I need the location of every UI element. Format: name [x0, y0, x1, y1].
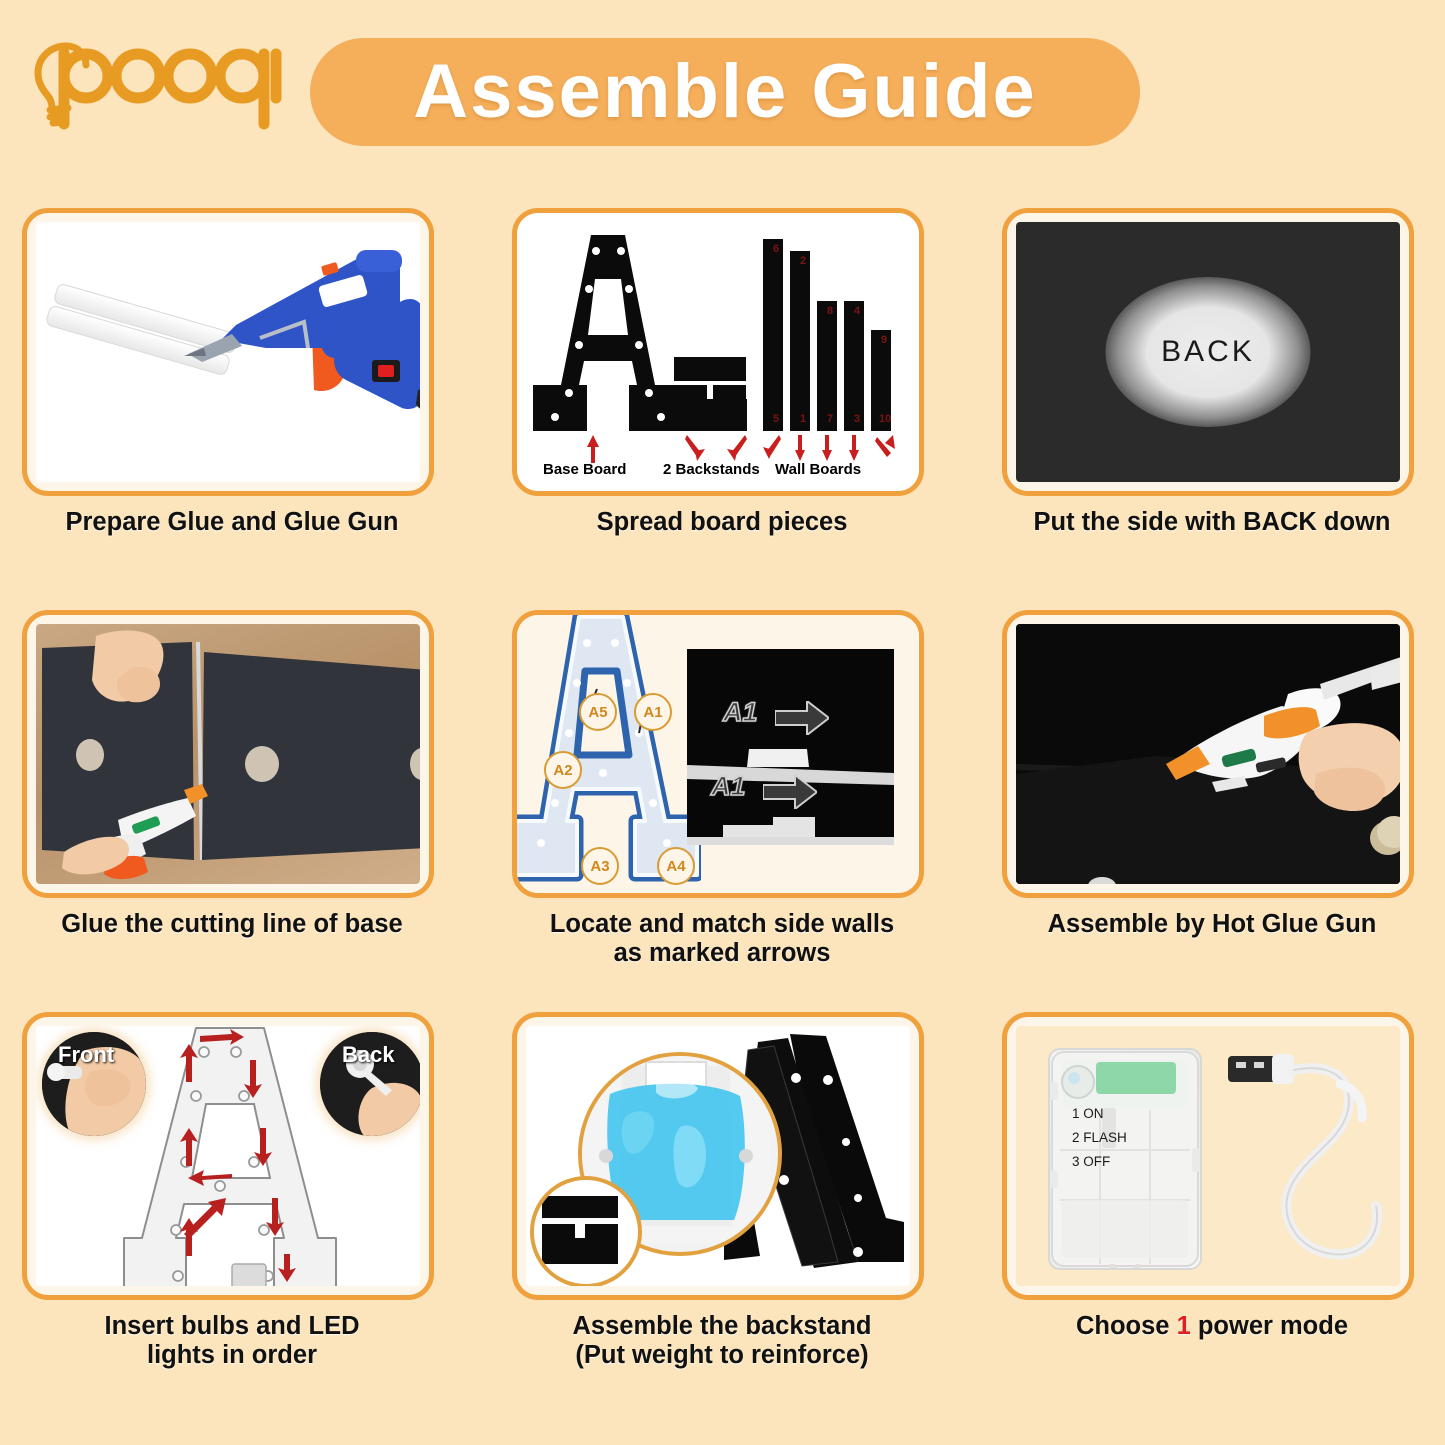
backstand-piece — [674, 357, 746, 381]
wall-board-number: 10 — [879, 413, 891, 425]
wall-board-number: 6 — [773, 243, 779, 255]
step-7-caption: Insert bulbs and LED lights in order — [22, 1312, 442, 1369]
step-5-caption-line-1: Locate and match side walls — [512, 910, 932, 939]
bulb-insertion-diagram: Front Back — [36, 1026, 420, 1286]
piece-label-base-board: Base Board — [543, 461, 626, 478]
step-card-2: Base Board 2 Backstands 6 5 — [512, 208, 932, 537]
battery-box: 1 ON 2 FLASH 3 OFF — [1048, 1048, 1202, 1270]
arrow-icon — [873, 435, 895, 461]
step-card-5: A5 A1 A2 A3 A4 A1 A1 — [512, 610, 932, 967]
glue-gun-and-sticks-photo — [36, 222, 420, 482]
step-4-caption: Glue the cutting line of base — [22, 910, 442, 939]
letter-a-with-side-walls — [517, 615, 701, 883]
glue-gun — [36, 222, 420, 482]
usb-cable — [1222, 1044, 1400, 1284]
step-6-frame — [1002, 610, 1414, 898]
step-9-caption-prefix: Choose — [1076, 1312, 1177, 1340]
marker-a3: A3 — [581, 847, 619, 885]
backstand-pieces-inset — [530, 1176, 642, 1286]
side-wall-matching-diagram: A5 A1 A2 A3 A4 A1 A1 — [517, 615, 919, 893]
steps-grid: Prepare Glue and Glue Gun — [0, 200, 1445, 1445]
step-4-frame — [22, 610, 434, 898]
dark-boards — [36, 624, 420, 884]
step-card-8: Assemble the backstand (Put weight to re… — [512, 1012, 932, 1369]
marker-a2: A2 — [544, 751, 582, 789]
arrow-icon — [793, 435, 807, 461]
arrow-icon — [585, 435, 601, 463]
marker-a1: A1 — [634, 693, 672, 731]
backstand-piece — [707, 399, 747, 431]
wall-board — [790, 251, 810, 431]
board-pieces-diagram: Base Board 2 Backstands 6 5 — [517, 213, 919, 491]
a1-label-top: A1 — [723, 697, 758, 728]
marker-a5: A5 — [579, 693, 617, 731]
step-3-caption: Put the side with BACK down — [1002, 508, 1422, 537]
lightbulb-icon — [20, 20, 285, 130]
back-label: BACK — [1161, 335, 1255, 369]
arrow-icon — [820, 435, 834, 461]
step-card-1: Prepare Glue and Glue Gun — [22, 208, 442, 537]
wall-board-number: 3 — [854, 413, 860, 425]
step-8-caption-line-1: Assemble the backstand — [512, 1312, 932, 1341]
arrow-icon — [847, 435, 861, 461]
base-board-letter-a — [533, 235, 683, 435]
step-9-caption: Choose 1 power mode — [1002, 1312, 1422, 1341]
backstand-assembly-photo — [526, 1026, 910, 1286]
step-7-frame: Front Back — [22, 1012, 434, 1300]
battery-box-and-usb-cable-photo: 1 ON 2 FLASH 3 OFF — [1016, 1026, 1400, 1286]
hot-glue-gun-assembly-photo — [1016, 624, 1400, 884]
step-5-caption: Locate and match side walls as marked ar… — [512, 910, 932, 967]
step-8-caption-line-2: (Put weight to reinforce) — [512, 1341, 932, 1370]
wall-board-number: 4 — [854, 305, 860, 317]
wall-board-number: 2 — [800, 255, 806, 267]
wall-board-number: 8 — [827, 305, 833, 317]
step-6-caption: Assemble by Hot Glue Gun — [1002, 910, 1422, 939]
step-7-caption-line-2: lights in order — [22, 1341, 442, 1370]
wall-board — [763, 239, 783, 431]
wall-board-number: 5 — [773, 413, 779, 425]
gluing-base-cutting-line-photo — [36, 624, 420, 884]
wall-board-number: 9 — [881, 334, 887, 346]
step-card-6: Assemble by Hot Glue Gun — [1002, 610, 1422, 939]
front-label: Front — [58, 1042, 114, 1068]
step-card-9: 1 ON 2 FLASH 3 OFF Choose 1 power mode — [1002, 1012, 1422, 1341]
step-5-caption-line-2: as marked arrows — [512, 939, 932, 968]
arrow-icon — [725, 435, 747, 461]
power-mode-off: 3 OFF — [1072, 1154, 1110, 1169]
step-9-frame: 1 ON 2 FLASH 3 OFF — [1002, 1012, 1414, 1300]
step-card-7: Front Back Insert bulbs and LED lights i… — [22, 1012, 442, 1369]
step-7-caption-line-1: Insert bulbs and LED — [22, 1312, 442, 1341]
step-5-frame: A5 A1 A2 A3 A4 A1 A1 — [512, 610, 924, 898]
step-1-frame — [22, 208, 434, 496]
page-header: Assemble Guide — [0, 0, 1445, 200]
back-label: Back — [342, 1042, 395, 1068]
arrow-right-icon — [775, 701, 829, 735]
wall-board-number: 1 — [800, 413, 806, 425]
a1-label-bottom: A1 — [711, 771, 746, 802]
power-mode-flash: 2 FLASH — [1072, 1130, 1127, 1145]
step-1-caption: Prepare Glue and Glue Gun — [22, 508, 442, 537]
glue-gun-in-hand — [1016, 624, 1400, 884]
step-3-frame: BACK — [1002, 208, 1414, 496]
step-8-frame — [512, 1012, 924, 1300]
backstand-piece-icons — [534, 1180, 630, 1276]
arrow-icon — [685, 435, 707, 461]
arrow-right-icon — [763, 775, 817, 809]
wall-board-number: 7 — [827, 413, 833, 425]
marker-a4: A4 — [657, 847, 695, 885]
back-side-photo: BACK — [1016, 222, 1400, 482]
step-9-caption-highlight: 1 — [1177, 1312, 1191, 1340]
wall-board — [817, 301, 837, 431]
page-title: Assemble Guide — [413, 54, 1037, 130]
board-strip — [687, 649, 894, 845]
step-2-caption: Spread board pieces — [512, 508, 932, 537]
piece-label-backstands: 2 Backstands — [663, 461, 760, 478]
page-title-banner: Assemble Guide — [310, 38, 1140, 146]
wall-board — [844, 301, 864, 431]
power-mode-on: 1 ON — [1072, 1106, 1104, 1121]
brand-logo — [20, 20, 285, 130]
a1-marking-photo: A1 A1 — [687, 649, 894, 845]
step-8-caption: Assemble the backstand (Put weight to re… — [512, 1312, 932, 1369]
step-card-4: Glue the cutting line of base — [22, 610, 442, 939]
piece-label-wall-boards: Wall Boards — [775, 461, 861, 478]
step-card-3: BACK Put the side with BACK down — [1002, 208, 1422, 537]
step-9-caption-suffix: power mode — [1191, 1312, 1348, 1340]
step-2-frame: Base Board 2 Backstands 6 5 — [512, 208, 924, 496]
arrow-icon — [761, 435, 781, 459]
